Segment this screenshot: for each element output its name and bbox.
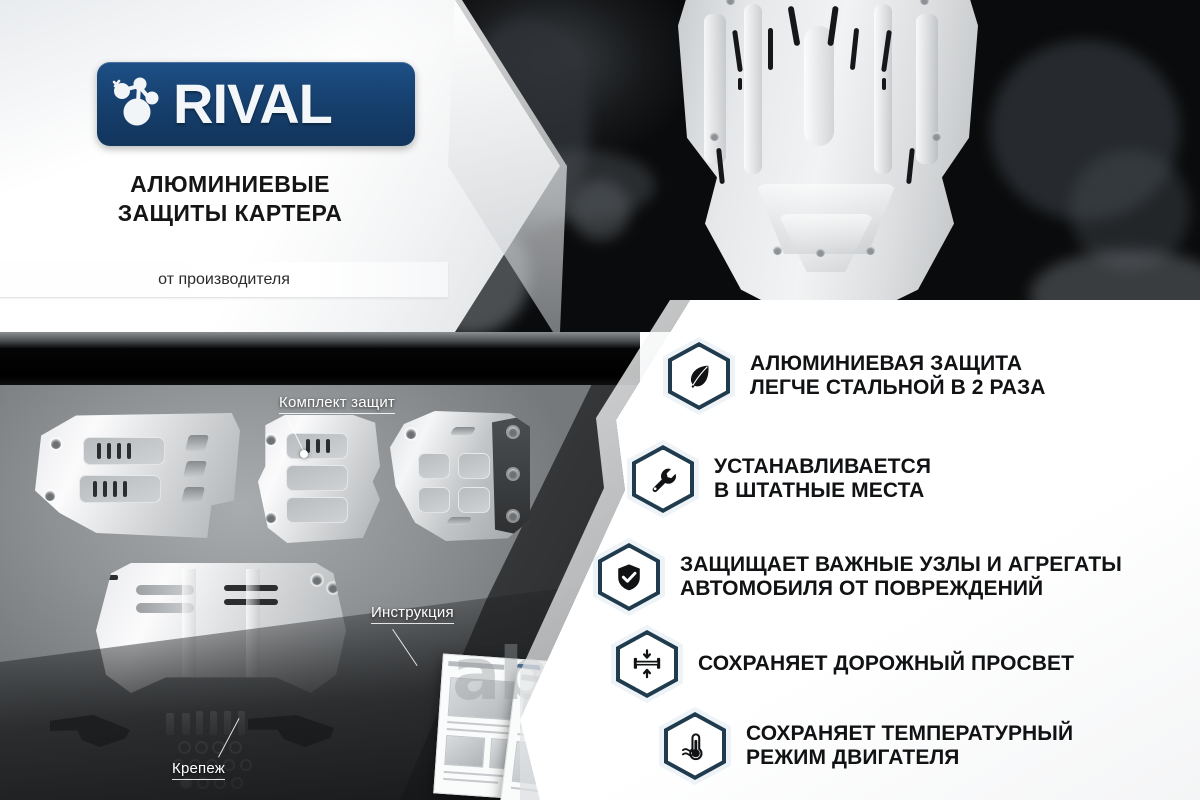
feature-line1: СОХРАНЯЕТ ТЕМПЕРАТУРНЫЙ xyxy=(746,722,1073,745)
feature-line2: РЕЖИМ ДВИГАТЕЛЯ xyxy=(746,746,1073,770)
skid-plate-part-2 xyxy=(258,415,380,543)
skid-plate-part-1 xyxy=(35,413,240,538)
rival-logo: RIVAL xyxy=(97,62,415,146)
promo-banner: Преимущества RIVAL АЛЮМИНИЕВЫЕ ЗАЩИТЫ xyxy=(0,0,1200,800)
wrench-icon xyxy=(632,445,694,513)
feature-item-protects-components: ЗАЩИЩАЕТ ВАЖНЫЕ УЗЛЫ И АГРЕГАТЫ АВТОМОБИ… xyxy=(598,543,1122,611)
feature-line1: АЛЮМИНИЕВАЯ ЗАЩИТА xyxy=(750,352,1022,375)
feature-line1: УСТАНАВЛИВАЕТСЯ xyxy=(714,455,931,478)
molecule-icon xyxy=(105,68,177,140)
feature-label: СОХРАНЯЕТ ДОРОЖНЫЙ ПРОСВЕТ xyxy=(698,652,1074,676)
thermometer-icon xyxy=(664,712,726,780)
leaf-icon xyxy=(668,342,730,410)
feature-item-factory-mounting: УСТАНАВЛИВАЕТСЯ В ШТАТНЫЕ МЕСТА xyxy=(632,445,931,513)
ground-clearance-icon xyxy=(616,630,678,698)
feature-item-engine-temperature: СОХРАНЯЕТ ТЕМПЕРАТУРНЫЙ РЕЖИМ ДВИГАТЕЛЯ xyxy=(664,712,1073,780)
feature-label: АЛЮМИНИЕВАЯ ЗАЩИТА ЛЕГЧЕ СТАЛЬНОЙ В 2 РА… xyxy=(750,352,1046,401)
section-divider-band xyxy=(0,332,640,388)
label-kit: Комплект защит xyxy=(279,394,395,414)
feature-item-aluminium-lighter: АЛЮМИНИЕВАЯ ЗАЩИТА ЛЕГЧЕ СТАЛЬНОЙ В 2 РА… xyxy=(668,342,1046,410)
page-title: АЛЮМИНИЕВЫЕ ЗАЩИТЫ КАРТЕРА xyxy=(0,170,460,229)
feature-line1: СОХРАНЯЕТ ДОРОЖНЫЙ ПРОСВЕТ xyxy=(698,652,1074,675)
rival-wordmark: RIVAL xyxy=(173,76,332,132)
header-subtitle-bar: от производителя xyxy=(0,262,448,298)
feature-label: ЗАЩИЩАЕТ ВАЖНЫЕ УЗЛЫ И АГРЕГАТЫ АВТОМОБИ… xyxy=(680,553,1122,602)
feature-line1: ЗАЩИЩАЕТ ВАЖНЫЕ УЗЛЫ И АГРЕГАТЫ xyxy=(680,553,1122,576)
label-instruction: Инструкция xyxy=(371,604,454,624)
page-title-line2: ЗАЩИТЫ КАРТЕРА xyxy=(0,199,460,228)
shield-check-icon xyxy=(598,543,660,611)
feature-label: СОХРАНЯЕТ ТЕМПЕРАТУРНЫЙ РЕЖИМ ДВИГАТЕЛЯ xyxy=(746,722,1073,771)
feature-label: УСТАНАВЛИВАЕТСЯ В ШТАТНЫЕ МЕСТА xyxy=(714,455,931,504)
skid-plate-part-3 xyxy=(390,411,530,541)
feature-item-ground-clearance: СОХРАНЯЕТ ДОРОЖНЫЙ ПРОСВЕТ xyxy=(616,630,1074,698)
feature-line2: АВТОМОБИЛЯ ОТ ПОВРЕЖДЕНИЙ xyxy=(680,577,1122,601)
page-title-line1: АЛЮМИНИЕВЫЕ xyxy=(0,170,460,199)
installed-skid-plate xyxy=(678,0,978,316)
leader-dot-kit xyxy=(300,450,308,458)
label-hardware: Крепеж xyxy=(172,760,225,780)
feature-line2: ЛЕГЧЕ СТАЛЬНОЙ В 2 РАЗА xyxy=(750,376,1046,400)
feature-line2: В ШТАТНЫЕ МЕСТА xyxy=(714,479,931,503)
header-subtitle: от производителя xyxy=(158,271,290,289)
